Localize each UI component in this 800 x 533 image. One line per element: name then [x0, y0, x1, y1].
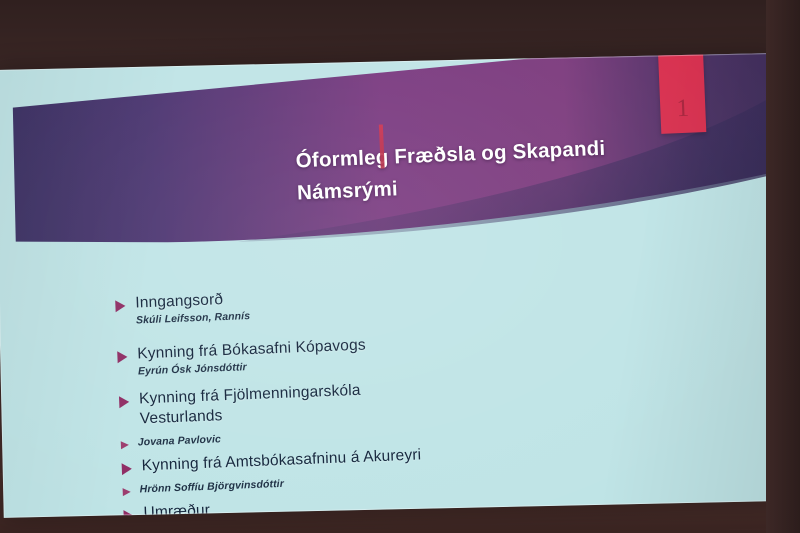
- wall-right-of-screen: [766, 0, 800, 533]
- triangle-bullet-icon: [122, 463, 132, 475]
- triangle-bullet-icon: [119, 396, 129, 408]
- slide-number-tab: 1: [658, 53, 706, 134]
- agenda-item-title: Inngangsorð: [135, 290, 224, 313]
- slide-header-banner: 1 Óformleg Fræðsla og Skapandi Námsrými: [0, 53, 782, 270]
- projection-screen: 1 Óformleg Fræðsla og Skapandi Námsrými …: [0, 53, 788, 518]
- triangle-bullet-icon: [123, 488, 131, 496]
- projection-room-photo: 1 Óformleg Fræðsla og Skapandi Námsrými …: [0, 0, 800, 533]
- triangle-bullet-icon: [115, 300, 125, 312]
- slide-number-label: 1: [660, 94, 706, 124]
- agenda-list: Inngangsorð Skúli Leifsson, Rannís Kynni…: [115, 272, 684, 518]
- triangle-bullet-icon: [117, 351, 127, 363]
- triangle-bullet-icon: [121, 441, 129, 449]
